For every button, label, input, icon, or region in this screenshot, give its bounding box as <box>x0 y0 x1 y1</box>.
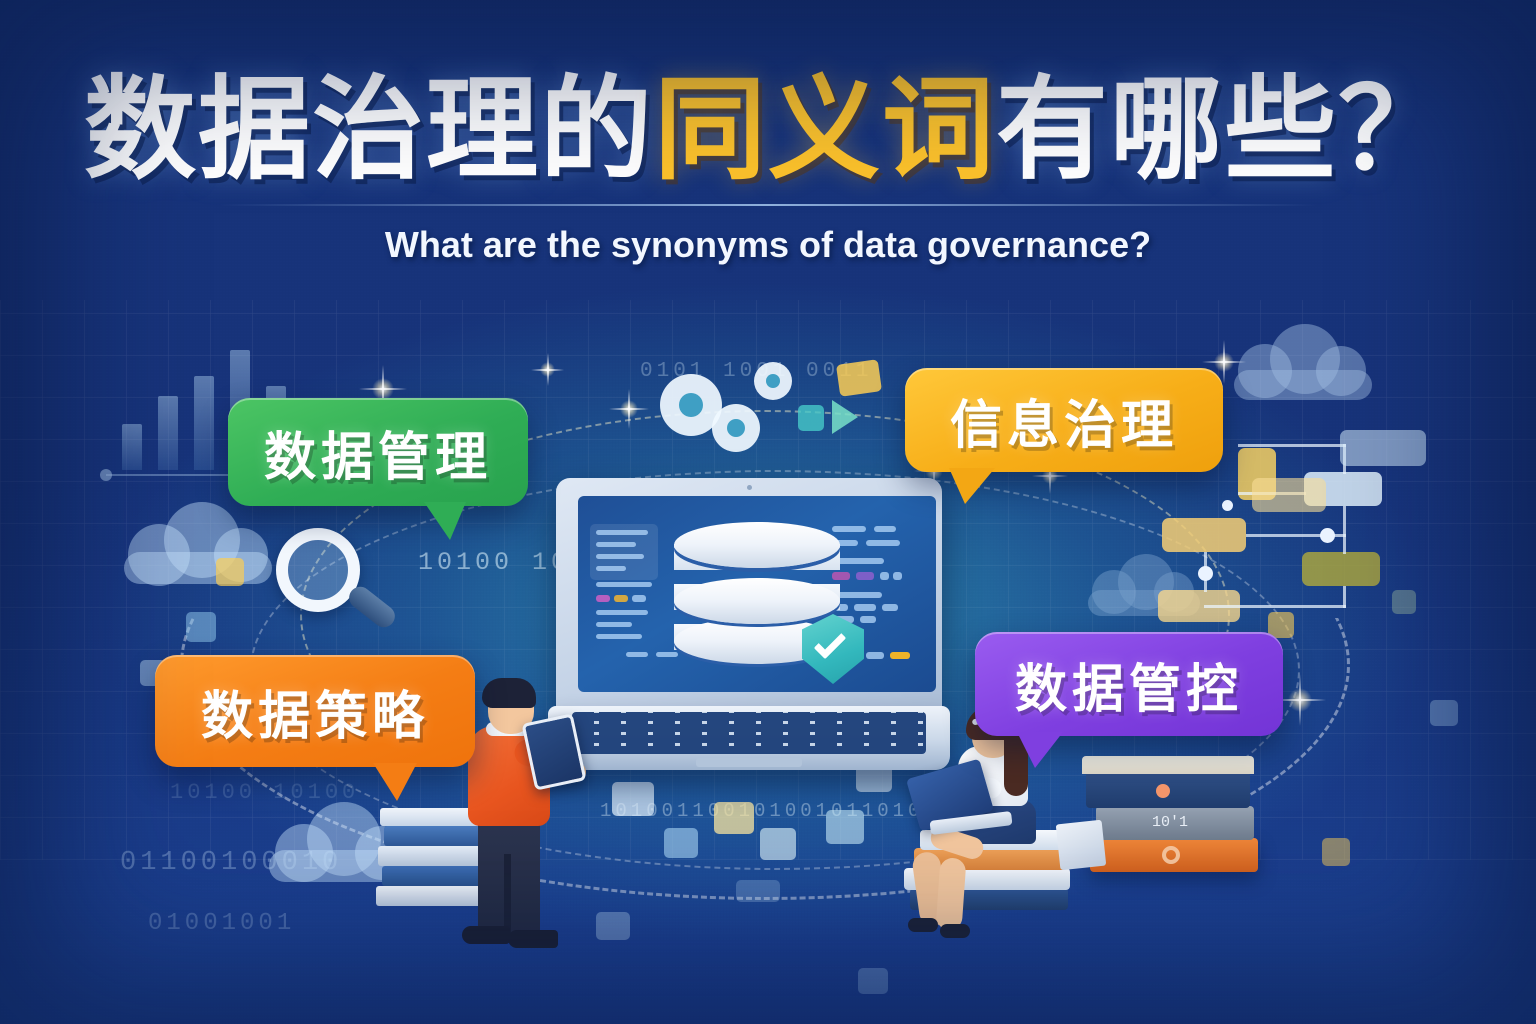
woman-shoe-1 <box>908 918 938 932</box>
decor-tile-yellow-1 <box>836 359 882 397</box>
laptop-trackpad <box>696 758 802 767</box>
screen-line-8 <box>596 634 642 639</box>
flow-node-1 <box>1320 528 1335 543</box>
screen-r-grid-8 <box>866 652 884 659</box>
screen-line-3 <box>596 554 644 559</box>
laptop-screen <box>578 496 936 692</box>
title-part-2: 有哪些？ <box>996 67 1452 192</box>
man-shoe-left <box>462 926 510 944</box>
page-title: 数据治理的同义词有哪些？ <box>0 72 1536 188</box>
checkmark-icon <box>814 627 847 660</box>
gear-small-icon <box>754 362 792 400</box>
screen-r-grid-5 <box>860 616 876 623</box>
laptop-lid <box>556 478 942 714</box>
flow-box-yellow-wide <box>1162 518 1246 552</box>
binder-navy <box>1086 772 1250 808</box>
bar-1 <box>122 424 142 470</box>
woman-shoe-2 <box>940 924 970 938</box>
screen-chip-2 <box>614 595 628 602</box>
screen-line-1 <box>596 530 648 535</box>
floating-tile-7 <box>760 828 796 860</box>
callout-tail-orange <box>373 763 417 801</box>
callout-data-management[interactable]: 数据管理 <box>228 398 528 506</box>
bar-3 <box>194 376 214 470</box>
gears-icon <box>660 362 790 462</box>
callout-label-data-management: 数据管理 <box>264 415 492 490</box>
flow-node-3 <box>1222 500 1233 511</box>
binder-ring-orange <box>1162 846 1180 864</box>
title-part-1: 数据治理的 <box>84 67 654 192</box>
screen-r-line-4 <box>866 540 900 546</box>
man-shoe-right <box>508 930 558 948</box>
floating-tile-12 <box>736 880 780 902</box>
floating-tile-15 <box>1430 700 1458 726</box>
callout-information-governance[interactable]: 信息治理 <box>905 368 1223 472</box>
floating-tile-6 <box>714 802 754 834</box>
floating-tile-10 <box>858 968 888 994</box>
man-leg-split <box>504 854 511 934</box>
arrow-icon <box>832 400 858 434</box>
floating-tile-1 <box>216 558 244 586</box>
callout-label-data-control: 数据管控 <box>1015 647 1243 722</box>
cloud-icon-right <box>1222 322 1382 400</box>
callout-tail-purple <box>1017 732 1063 768</box>
db-disc-middle <box>674 578 840 624</box>
floating-tile-14 <box>1322 838 1350 866</box>
binder-gray: 10'1 <box>1096 806 1254 840</box>
page-subtitle: What are the synonyms of data governance… <box>0 224 1536 266</box>
laptop-camera <box>747 485 752 490</box>
flow-line-7 <box>1204 605 1346 608</box>
floating-tile-5 <box>664 828 698 858</box>
man-hair <box>482 678 536 708</box>
flow-node-2 <box>1198 566 1213 581</box>
binder-stack-icon: 10'1 <box>1076 742 1276 902</box>
screen-line-6 <box>596 610 648 615</box>
chart-axis-dot <box>100 469 112 481</box>
callout-data-strategy[interactable]: 数据策略 <box>155 655 475 767</box>
screen-r-grid-2 <box>854 604 876 611</box>
screen-r-chip-4 <box>893 572 902 580</box>
sparkle-3 <box>540 362 555 377</box>
screen-line-4 <box>596 566 626 571</box>
magnifying-glass-icon <box>276 528 396 638</box>
db-disc-top <box>674 522 840 568</box>
screen-line-9 <box>626 652 648 657</box>
screen-line-2 <box>596 542 636 547</box>
binder-dot-navy <box>1156 784 1170 798</box>
binary-text-2: 01001001 <box>148 910 295 937</box>
bar-2 <box>158 396 178 470</box>
screen-line-5 <box>596 582 652 587</box>
laptop-base <box>548 706 950 770</box>
binder-label-gray: 10'1 <box>1152 814 1188 831</box>
binder-orange <box>1090 838 1258 872</box>
sparkle-4 <box>1214 352 1234 372</box>
title-highlight: 同义词 <box>654 67 996 192</box>
floating-tile-8 <box>826 810 864 844</box>
database-cylinder-icon <box>674 522 840 668</box>
callout-label-information-governance: 信息治理 <box>950 383 1178 458</box>
screen-r-chip-2 <box>856 572 874 580</box>
screen-r-chip-3 <box>880 572 889 580</box>
flow-line-1 <box>1238 444 1346 447</box>
sparkle-5 <box>1288 688 1312 712</box>
callout-data-control[interactable]: 数据管控 <box>975 632 1283 736</box>
sparkle-1 <box>372 378 394 400</box>
binder-top-page <box>1082 756 1254 774</box>
cloud-icon-left <box>110 498 280 584</box>
screen-chip-1 <box>596 595 610 602</box>
gear-medium-icon <box>712 404 760 452</box>
screen-chip-3 <box>632 595 646 602</box>
header: 数据治理的同义词有哪些？ What are the synonyms of da… <box>0 72 1536 266</box>
laptop-illustration <box>548 478 950 798</box>
binder-side-book <box>1056 820 1107 871</box>
floating-tile-2 <box>186 612 216 642</box>
laptop-keyboard <box>572 712 926 754</box>
callout-tail-yellow <box>949 468 995 504</box>
callout-tail-green <box>424 502 466 540</box>
decor-tile-teal <box>798 405 824 431</box>
sparkle-2 <box>620 400 638 418</box>
screen-r-grid-9 <box>890 652 910 659</box>
woman-leg-3 <box>936 857 967 931</box>
title-divider <box>218 204 1318 206</box>
flow-box-far-right <box>1340 430 1426 466</box>
flow-box-olive <box>1302 552 1380 586</box>
screen-line-7 <box>596 622 632 627</box>
flow-box-far-right-2 <box>1252 478 1326 512</box>
flow-line-8 <box>1343 586 1346 608</box>
screen-r-grid-3 <box>882 604 898 611</box>
callout-label-data-strategy: 数据策略 <box>201 674 429 749</box>
screen-r-line-2 <box>874 526 896 532</box>
infographic-canvas: 01100100010 01001001 10100 10100 0101 10… <box>0 0 1536 1024</box>
flow-line-4 <box>1343 506 1346 554</box>
